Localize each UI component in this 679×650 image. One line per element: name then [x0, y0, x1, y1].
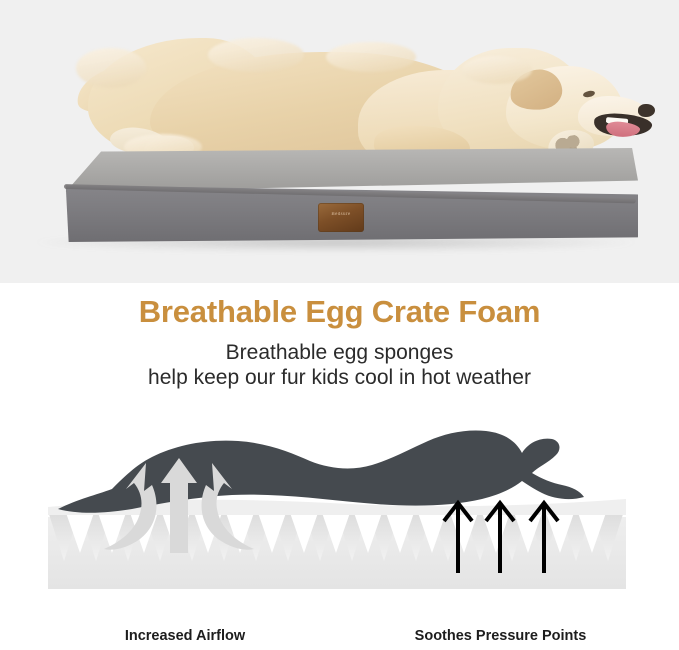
feature-info-panel: Breathable Egg Crate Foam Breathable egg… [0, 283, 679, 650]
dog-silhouette [58, 430, 584, 512]
brand-logo-text: Bedsure [318, 212, 364, 217]
fur-tuft [76, 48, 146, 88]
foam-cross-section-svg [0, 403, 679, 650]
fur-tuft [462, 56, 532, 84]
feature-headline: Breathable Egg Crate Foam [0, 294, 679, 330]
brand-logo-patch: Bedsure [318, 203, 364, 232]
caption-increased-airflow: Increased Airflow [75, 628, 295, 644]
fur-tuft [208, 38, 304, 72]
product-feature-image: Bedsure Breathable Egg Crate Foam Breath… [0, 0, 679, 650]
egg-crate-foam-diagram [0, 403, 679, 650]
dog-nose [638, 104, 655, 117]
feature-subline-2: help keep our fur kids cool in hot weath… [0, 366, 679, 390]
feature-subline-1: Breathable egg sponges [0, 341, 679, 365]
fur-tuft [326, 42, 416, 72]
caption-soothes-pressure-points: Soothes Pressure Points [388, 628, 613, 644]
product-photo-panel: Bedsure [0, 0, 679, 283]
dog-bed [48, 148, 638, 248]
